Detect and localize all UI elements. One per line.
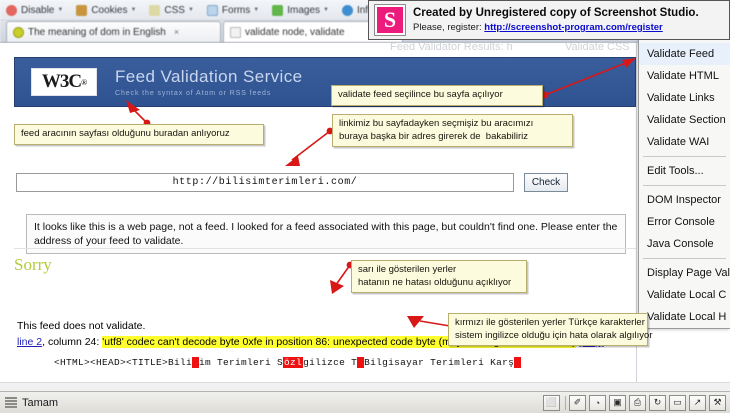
images-icon	[272, 5, 283, 16]
menu-separator	[643, 156, 726, 157]
globe-icon[interactable]: ◔	[589, 395, 606, 411]
feed-url-input[interactable]: http://bilisimterimleri.com/	[16, 173, 514, 192]
menu-separator	[643, 258, 726, 259]
refresh-icon[interactable]: ↻	[649, 395, 666, 411]
menu-item-validate-local-css[interactable]: Validate Local C	[639, 284, 730, 306]
screenshot-studio-watermark: S Created by Unregistered copy of Screen…	[368, 0, 730, 40]
pencil-icon[interactable]: ✐	[569, 395, 586, 411]
invalid-char-marker: özl	[283, 357, 303, 368]
sorry-heading: Sorry	[14, 255, 52, 275]
browser-tab-dom-meaning[interactable]: The meaning of dom in English ×	[6, 21, 221, 42]
invalid-char-marker	[514, 357, 521, 368]
devtool-cookies[interactable]: Cookies ▼	[76, 5, 136, 16]
error-line-link[interactable]: line 2	[17, 336, 42, 348]
tools-icon[interactable]: ⚒	[709, 395, 726, 411]
watermark-register-prefix: Please, register:	[413, 22, 482, 33]
menu-separator	[643, 185, 726, 186]
page-subtitle: Check the syntax of Atom or RSS feeds	[115, 90, 302, 97]
code-text: Bilgisayar Terimleri Karş	[364, 357, 514, 368]
code-text: gilizce T	[303, 357, 357, 368]
chevron-down-icon: ▼	[323, 7, 329, 13]
menu-item-error-console[interactable]: Error Console	[639, 211, 730, 233]
page-title: Feed Validation Service	[115, 67, 302, 87]
feed-invalid-text: This feed does not validate.	[17, 320, 145, 332]
w3c-logo-registered: ®	[81, 78, 86, 87]
menu-item-java-console[interactable]: Java Console	[639, 233, 730, 255]
chevron-down-icon: ▼	[57, 7, 63, 13]
devtool-forms[interactable]: Forms ▼	[207, 5, 259, 16]
chevron-down-icon: ▼	[188, 7, 194, 13]
annotation-validate-feed-opens: validate feed seçilince bu sayfa açılıyo…	[331, 85, 543, 106]
annotation-link-selected: linkimiz bu sayfadayken seçmişiz bu arac…	[332, 114, 573, 147]
watermark-text: Created by Unregistered copy of Screensh…	[413, 7, 699, 33]
horizontal-scrollbar[interactable]	[0, 382, 730, 391]
devtool-label: Forms	[222, 5, 250, 16]
close-icon[interactable]: ×	[174, 27, 179, 37]
devtool-label: Cookies	[91, 5, 127, 16]
tab-label: validate node, validate	[245, 27, 345, 38]
devtool-label: Images	[287, 5, 320, 16]
screenshot-studio-logo-icon: S	[375, 5, 405, 35]
status-bar: Tamam ⬜ ✐ ◔ ▣ ⎙ ↻ ▭ ↗ ⚒	[0, 391, 730, 413]
toolbar-separator	[565, 396, 566, 410]
printer-icon[interactable]: ⎙	[629, 395, 646, 411]
header-titles: Feed Validation Service Check the syntax…	[115, 67, 302, 97]
ghost-feed-validator-results: Feed Validator Results: h	[390, 43, 513, 53]
check-button[interactable]: Check	[524, 173, 568, 192]
watermark-register-link[interactable]: http://screenshot-program.com/register	[484, 22, 662, 33]
menu-item-edit-tools[interactable]: Edit Tools...	[639, 160, 730, 182]
info-icon	[342, 5, 353, 16]
cookie-person-icon	[76, 5, 87, 16]
devtool-disable[interactable]: Disable ▼	[6, 5, 63, 16]
watermark-register-line: Please, register: http://screenshot-prog…	[413, 22, 699, 33]
tab-label: The meaning of dom in English	[28, 27, 166, 38]
error-column-text: , column 24:	[42, 336, 102, 348]
ghost-validate-css: Validate CSS	[565, 43, 630, 53]
status-bar-tools[interactable]: ⬜ ✐ ◔ ▣ ⎙ ↻ ▭ ↗ ⚒	[540, 395, 730, 411]
invalid-char-marker	[192, 357, 199, 368]
watermark-headline: Created by Unregistered copy of Screensh…	[413, 7, 699, 19]
window-icon[interactable]: ▭	[669, 395, 686, 411]
menu-item-validate-wai[interactable]: Validate WAI	[639, 131, 730, 153]
menu-item-validate-html[interactable]: Validate HTML	[639, 65, 730, 87]
devtool-label: CSS	[164, 5, 185, 16]
status-text: Tamam	[22, 397, 58, 409]
page-divider	[14, 248, 636, 249]
error-code-snippet-1: <HTML><HEAD><TITLE>Bili im Terimleri Söz…	[54, 357, 521, 368]
forms-icon	[207, 5, 218, 16]
menu-item-validate-feed[interactable]: Validate Feed	[639, 43, 730, 65]
w3c-logo-text: W3C	[42, 71, 81, 93]
save-disk-icon[interactable]: ▣	[609, 395, 626, 411]
menu-item-validate-links[interactable]: Validate Links	[639, 87, 730, 109]
menu-item-validate-section[interactable]: Validate Section	[639, 109, 730, 131]
code-text: <HTML><HEAD><TITLE>Bili	[54, 357, 192, 368]
w3c-logo: W3C®	[31, 68, 97, 96]
menu-item-validate-local-html[interactable]: Validate Local H	[639, 306, 730, 328]
page-icon[interactable]: ⬜	[543, 395, 560, 411]
menu-item-display-page-validation[interactable]: Display Page Val	[639, 262, 730, 284]
favicon-icon	[230, 27, 241, 38]
devtool-label: Disable	[21, 5, 54, 16]
red-circle-icon	[6, 5, 17, 16]
code-text: im Terimleri S	[199, 357, 283, 368]
favicon-icon	[13, 27, 24, 38]
validation-form[interactable]: http://bilisimterimleri.com/ Check	[16, 161, 616, 203]
annotation-feed-tool-page: feed aracının sayfası olduğunu buradan a…	[14, 124, 264, 145]
devtool-css[interactable]: CSS ▼	[149, 5, 194, 16]
chart-icon[interactable]: ↗	[689, 395, 706, 411]
menu-item-dom-inspector[interactable]: DOM Inspector	[639, 189, 730, 211]
web-developer-validate-menu[interactable]: Validate Feed Validate HTML Validate Lin…	[638, 39, 730, 329]
annotation-yellow-explains: sarı ile gösterilen yerler hatanın ne ha…	[351, 260, 527, 293]
chevron-down-icon: ▼	[253, 7, 259, 13]
annotation-red-turkish-chars: kırmızı ile gösterilen yerler Türkçe kar…	[448, 313, 648, 346]
devtool-images[interactable]: Images ▼	[272, 5, 329, 16]
drag-handle[interactable]	[5, 397, 17, 409]
css-icon	[149, 5, 160, 16]
chevron-down-icon: ▼	[130, 7, 136, 13]
